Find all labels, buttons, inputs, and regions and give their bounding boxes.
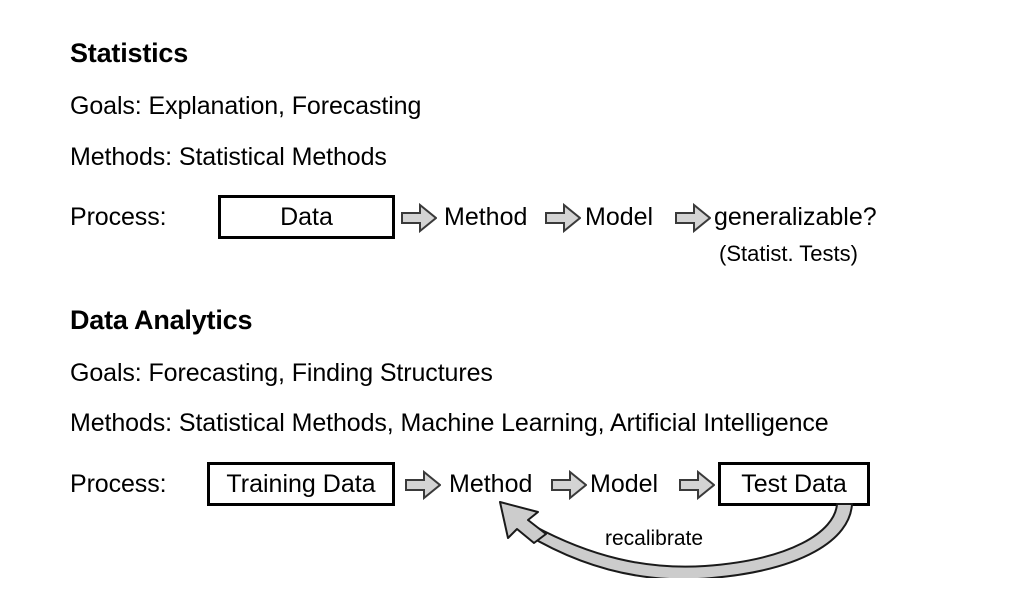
arrow-right-icon xyxy=(545,203,581,238)
statistics-tests-note: (Statist. Tests) xyxy=(719,243,858,265)
recalibrate-label: recalibrate xyxy=(605,528,703,549)
training-data-box-label: Training Data xyxy=(226,472,375,497)
statistics-heading: Statistics xyxy=(70,40,188,67)
data-analytics-step-model: Model xyxy=(590,472,658,497)
data-analytics-methods-line: Methods: Statistical Methods, Machine Le… xyxy=(70,411,829,436)
statistics-data-box[interactable]: Data xyxy=(218,195,395,239)
training-data-box[interactable]: Training Data xyxy=(207,462,395,506)
data-analytics-step-method: Method xyxy=(449,472,532,497)
statistics-step-generalizable: generalizable? xyxy=(714,205,877,230)
statistics-data-box-label: Data xyxy=(280,205,333,230)
test-data-box-label: Test Data xyxy=(741,472,847,497)
arrow-right-icon xyxy=(675,203,711,238)
statistics-goals-line: Goals: Explanation, Forecasting xyxy=(70,94,421,119)
statistics-step-model: Model xyxy=(585,205,653,230)
arrow-right-icon xyxy=(405,470,441,505)
statistics-methods-line: Methods: Statistical Methods xyxy=(70,145,387,170)
statistics-process-label: Process: xyxy=(70,205,166,230)
diagram-canvas: Statistics Goals: Explanation, Forecasti… xyxy=(0,0,1015,593)
data-analytics-process-label: Process: xyxy=(70,472,166,497)
data-analytics-heading: Data Analytics xyxy=(70,307,252,334)
statistics-step-method: Method xyxy=(444,205,527,230)
data-analytics-goals-line: Goals: Forecasting, Finding Structures xyxy=(70,361,493,386)
arrow-right-icon xyxy=(401,203,437,238)
